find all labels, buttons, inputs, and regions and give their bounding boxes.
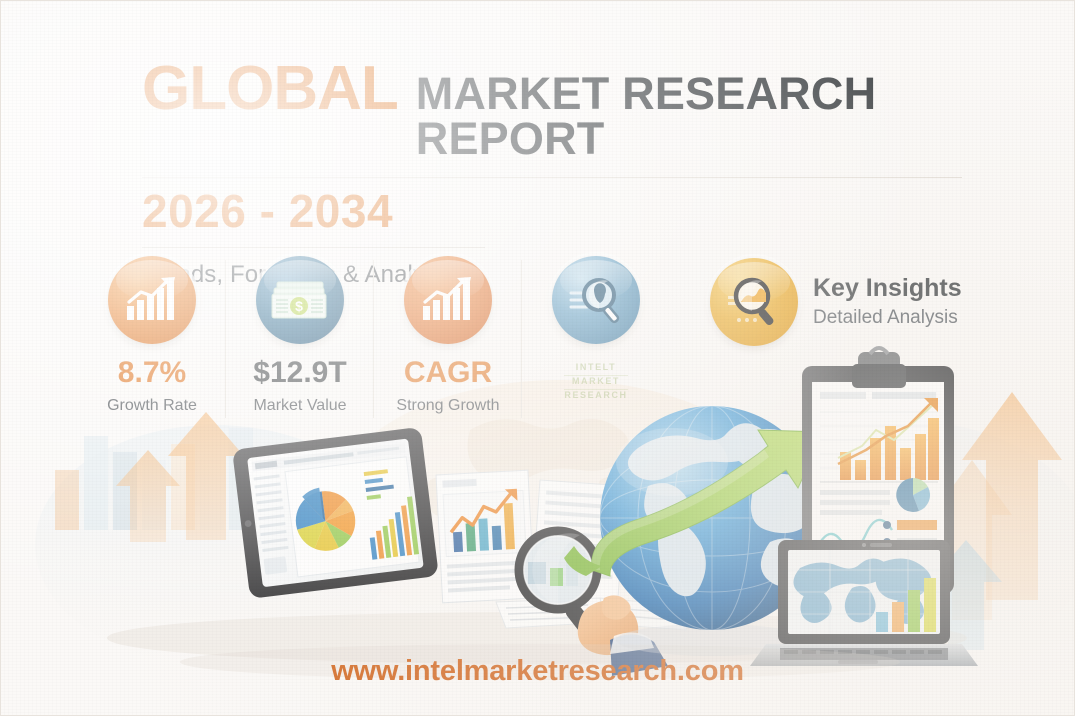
divider-rule-top bbox=[142, 177, 962, 178]
stat-cagr: CAGR Strong Growth bbox=[399, 256, 497, 415]
watermark-line-3: RESEARCH bbox=[564, 390, 627, 403]
svg-text:$: $ bbox=[295, 298, 303, 314]
stat-value: $12.9T bbox=[253, 358, 346, 388]
stat-label: Growth Rate bbox=[107, 397, 197, 415]
stats-row: 8.7% Growth Rate $ $12.9T Market Value bbox=[103, 256, 645, 415]
banknotes-dollar-icon: $ bbox=[256, 256, 344, 344]
stat-value: 8.7% bbox=[118, 358, 186, 388]
tablet-device bbox=[232, 427, 439, 599]
key-insights-block: Key Insights Detailed Analysis bbox=[710, 258, 962, 346]
report-years: 2026 - 2034 bbox=[142, 187, 972, 235]
stat-label: Strong Growth bbox=[396, 397, 499, 415]
stat-market-value: $ $12.9T Market Value bbox=[251, 256, 349, 415]
brand-watermark: INTELT MARKET RESEARCH bbox=[564, 362, 627, 403]
title-line: GLOBAL MARKET RESEARCH REPORT bbox=[142, 58, 972, 161]
key-insights-text: Key Insights Detailed Analysis bbox=[813, 275, 962, 330]
stat-label: Market Value bbox=[253, 397, 346, 415]
website-url[interactable]: www.intelmarketresearch.com bbox=[0, 655, 1075, 688]
report-header: GLOBAL MARKET RESEARCH REPORT 2026 - 203… bbox=[142, 58, 972, 289]
title-highlight: GLOBAL bbox=[142, 58, 398, 120]
magnifier-document-search-icon bbox=[552, 256, 640, 344]
title-rest: MARKET RESEARCH REPORT bbox=[416, 71, 972, 161]
watermark-line-1: INTELT bbox=[564, 362, 627, 376]
growth-bar-chart-arrow-icon bbox=[108, 256, 196, 344]
key-insights-subtitle: Detailed Analysis bbox=[813, 307, 962, 329]
stat-value: CAGR bbox=[404, 358, 492, 388]
stat-research: INTELT MARKET RESEARCH bbox=[547, 256, 645, 403]
stat-growth-rate: 8.7% Growth Rate bbox=[103, 256, 201, 415]
laptop-device bbox=[750, 540, 978, 666]
magnifier-insights-icon bbox=[710, 258, 798, 346]
key-insights-title: Key Insights bbox=[813, 275, 962, 303]
growth-bar-chart-arrow-icon bbox=[404, 256, 492, 344]
divider-rule-bottom bbox=[142, 247, 485, 248]
watermark-line-2: MARKET bbox=[564, 376, 627, 390]
clipboard-pie-chart bbox=[896, 478, 930, 512]
